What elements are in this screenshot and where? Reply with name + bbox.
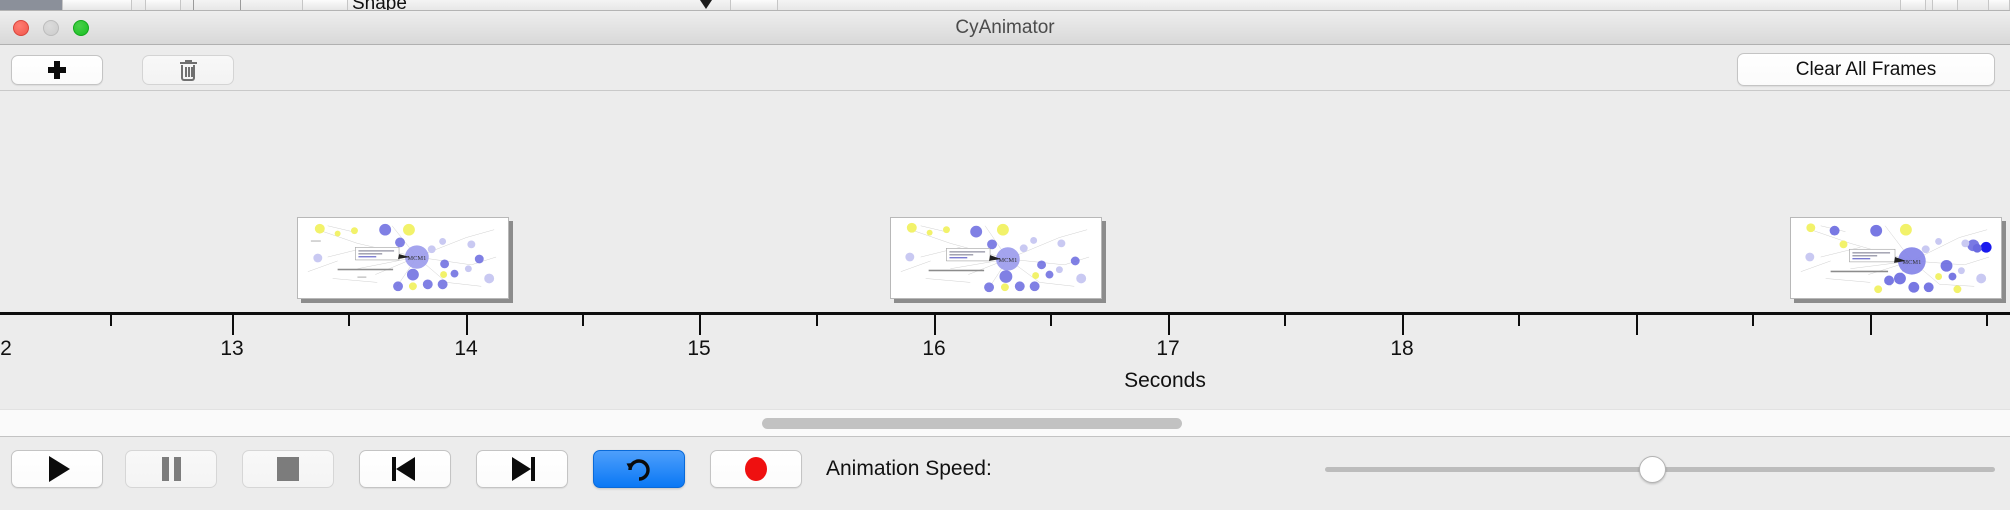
title-bar: CyAnimator [0, 11, 2010, 45]
axis-tick-major [1402, 315, 1404, 335]
timeline-panel[interactable]: MCM1 [0, 91, 2010, 409]
svg-text:MCM1: MCM1 [1902, 259, 1921, 266]
axis-tick-minor [1752, 315, 1754, 326]
axis-title-text: Seconds [1124, 369, 1206, 392]
stop-icon [277, 457, 299, 481]
loop-button[interactable] [593, 450, 685, 488]
slider-thumb[interactable] [1639, 456, 1666, 483]
clear-all-frames-label: Clear All Frames [1796, 59, 1936, 81]
timeline-scrollbar[interactable] [0, 409, 2010, 437]
axis-tick-minor [110, 315, 112, 326]
playback-toolbar: Animation Speed: [0, 437, 2010, 510]
axis-label: 18 [1390, 337, 1413, 361]
loop-refresh-icon [626, 455, 652, 483]
axis-tick-major [1636, 315, 1638, 335]
axis-tick-major [934, 315, 936, 335]
axis-title: Seconds [0, 369, 2010, 393]
svg-text:MCM1: MCM1 [998, 257, 1017, 264]
network-thumbnail-icon: MCM1 [891, 218, 1101, 298]
animation-speed-label: Animation Speed: [826, 450, 992, 488]
delete-frame-button[interactable] [142, 55, 234, 85]
axis-label: 17 [1156, 337, 1179, 361]
axis-tick-major [1168, 315, 1170, 335]
network-thumbnail-icon: MCM1 [1791, 218, 2001, 298]
axis-label: 13 [220, 337, 243, 361]
animation-speed-slider[interactable] [1325, 450, 1995, 488]
trash-icon [180, 60, 197, 81]
skip-to-start-button[interactable] [359, 450, 451, 488]
timeline-frame-1[interactable]: MCM1 [297, 217, 509, 299]
background-window-label: Shape [352, 0, 407, 11]
axis-tick-major [699, 315, 701, 335]
axis-tick-minor [1986, 315, 1988, 326]
axis-label: 14 [454, 337, 477, 361]
axis-tick-minor [1284, 315, 1286, 326]
skip-previous-icon [392, 457, 418, 481]
axis-tick-minor [1050, 315, 1052, 326]
record-button[interactable] [710, 450, 802, 488]
play-icon [49, 456, 70, 482]
cyanimator-window: Shape CyAnimator Clear All Frames [0, 0, 2010, 510]
axis-tick-minor [816, 315, 818, 326]
axis-label: 16 [922, 337, 945, 361]
plus-icon [47, 60, 67, 80]
stop-button[interactable] [242, 450, 334, 488]
play-button[interactable] [11, 450, 103, 488]
axis-tick-major [232, 315, 234, 335]
timeline-axis [0, 312, 2010, 315]
pause-button[interactable] [125, 450, 217, 488]
scrollbar-thumb[interactable] [762, 418, 1182, 429]
background-window-strip: Shape [0, 0, 2010, 11]
axis-tick-minor [1518, 315, 1520, 326]
network-thumbnail-icon: MCM1 [298, 218, 508, 298]
record-dot-icon [745, 457, 767, 481]
timeline-frame-2[interactable]: MCM1 [890, 217, 1102, 299]
axis-label: 15 [687, 337, 710, 361]
clear-all-frames-button[interactable]: Clear All Frames [1737, 53, 1995, 86]
axis-tick-major [466, 315, 468, 335]
skip-to-end-button[interactable] [476, 450, 568, 488]
axis-tick-major [1870, 315, 1872, 335]
window-title: CyAnimator [0, 11, 2010, 45]
axis-label: 2 [0, 337, 12, 361]
pause-icon [162, 457, 181, 481]
timeline-frame-3[interactable]: MCM1 [1790, 217, 2002, 299]
svg-text:MCM1: MCM1 [407, 255, 426, 262]
frame-toolbar: Clear All Frames [0, 45, 2010, 91]
axis-tick-minor [348, 315, 350, 326]
axis-tick-minor [582, 315, 584, 326]
skip-next-icon [509, 457, 535, 481]
add-frame-button[interactable] [11, 55, 103, 85]
